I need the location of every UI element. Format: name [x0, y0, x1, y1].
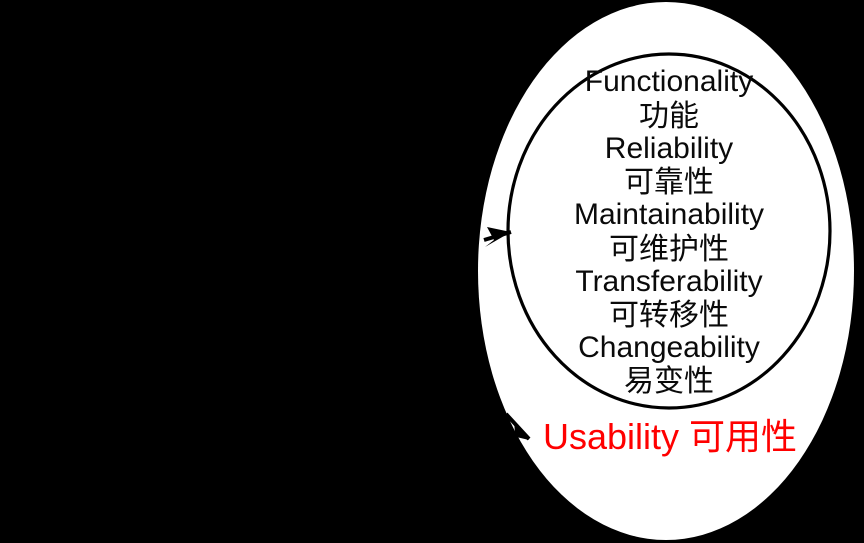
inner-line-reliability: Reliability	[605, 132, 733, 165]
inner-line-changeability: Changeability	[578, 331, 760, 364]
inner-line-kezhuanyixing: 可转移性	[609, 298, 729, 333]
diagram-canvas: Functionality 功能 Reliability 可靠性 Maintai…	[0, 0, 864, 543]
inner-line-maintainability: Maintainability	[574, 198, 764, 231]
inner-line-functionality: Functionality	[585, 65, 753, 98]
usability-label: Usability 可用性	[543, 416, 797, 457]
quality-attributes-diagram: Functionality 功能 Reliability 可靠性 Maintai…	[0, 0, 864, 543]
inner-line-yibianxing: 易变性	[624, 364, 714, 399]
inner-line-transferability: Transferability	[575, 265, 762, 298]
inner-line-kekaoxing: 可靠性	[624, 165, 714, 200]
inner-line-gongneng: 功能	[639, 99, 699, 134]
inner-line-keweihuxing: 可维护性	[609, 232, 729, 267]
